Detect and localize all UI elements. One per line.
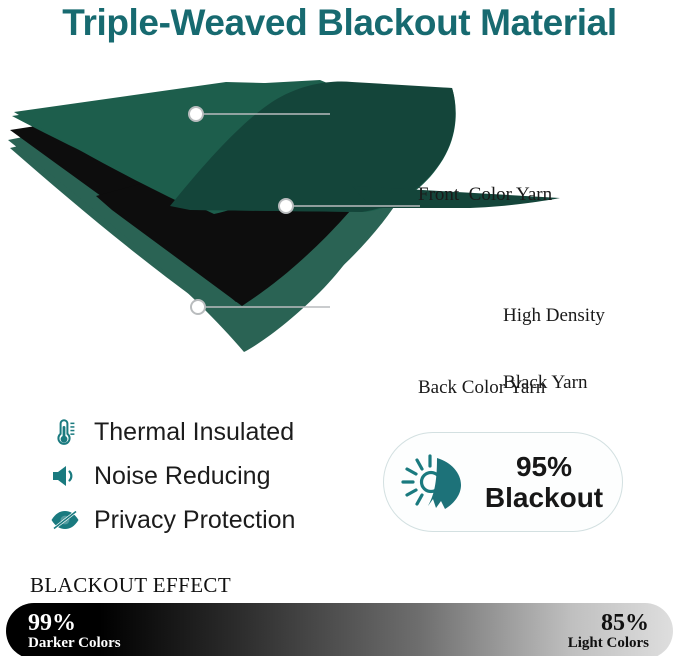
eye-slash-icon <box>48 503 82 537</box>
speaker-sound-icon <box>48 459 82 493</box>
label-back-color-yarn: Back Color Yarn <box>418 377 545 399</box>
bar-right-label: Light Colors <box>568 636 649 652</box>
page-title: Triple-Weaved Blackout Material <box>0 2 679 44</box>
feature-label: Thermal Insulated <box>94 418 294 447</box>
bar-left-percent: 99% <box>28 611 121 636</box>
sun-blocked-icon <box>396 448 472 516</box>
label-front-color-yarn: Front Color Yarn <box>418 184 552 206</box>
feature-label: Noise Reducing <box>94 462 271 491</box>
bar-left-label: Darker Colors <box>28 636 121 652</box>
bar-left-value: 99% Darker Colors <box>28 611 121 652</box>
fabric-layer-diagram: Front Color Yarn High Density Black Yarn… <box>0 78 679 353</box>
feature-list: Thermal Insulated Noise Reducing Pri <box>48 410 368 542</box>
blackout-effect-bar: 99% Darker Colors 85% Light Colors <box>6 603 673 656</box>
thermometer-icon <box>48 415 82 449</box>
bar-right-percent: 85% <box>568 611 649 636</box>
badge-label: Blackout <box>485 482 603 513</box>
blackout-effect-heading: BLACKOUT EFFECT <box>30 573 231 598</box>
blackout-badge: 95% Blackout <box>383 432 623 532</box>
feature-label: Privacy Protection <box>94 506 295 535</box>
bar-right-value: 85% Light Colors <box>568 611 649 652</box>
product-infographic: Triple-Weaved Blackout Material <box>0 0 679 656</box>
badge-percent: 95% <box>516 451 572 482</box>
feature-privacy-protection: Privacy Protection <box>48 498 368 542</box>
badge-text: 95% Blackout <box>472 451 622 514</box>
label-line-1: High Density <box>503 305 605 327</box>
label-high-density-black-yarn: High Density Black Yarn <box>503 260 605 439</box>
feature-noise-reducing: Noise Reducing <box>48 454 368 498</box>
feature-thermal-insulated: Thermal Insulated <box>48 410 368 454</box>
